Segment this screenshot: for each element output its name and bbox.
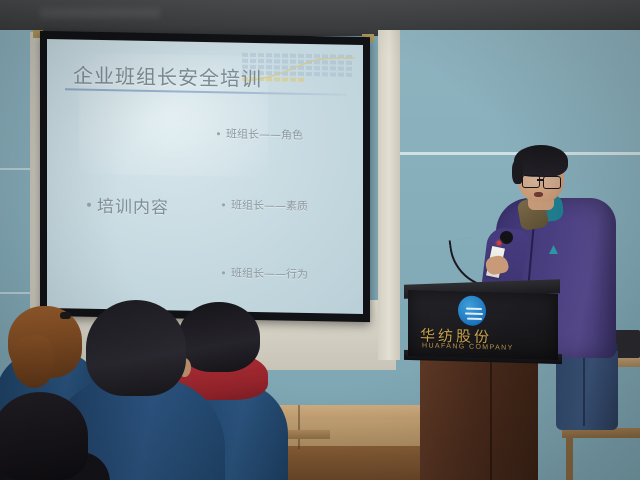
slide-bullet-behavior: 班组长——行为 xyxy=(222,264,308,282)
podium-base xyxy=(420,360,538,480)
microphone-head-icon xyxy=(500,231,513,244)
huafang-logo-icon xyxy=(458,295,486,326)
audience-member-hair xyxy=(178,302,260,372)
logo-wave-line xyxy=(467,318,482,320)
logo-wave-line xyxy=(466,308,482,310)
bullet-dot-icon xyxy=(222,271,225,274)
speaker-glasses-bridge xyxy=(537,179,544,181)
ceiling-light-reflection xyxy=(40,8,160,18)
slide-bullet-label: 班组长——行为 xyxy=(231,264,308,281)
speaker-mouth xyxy=(534,192,543,197)
speaker-glasses-left-lens xyxy=(522,175,540,188)
presentation-slide: 企业班组长安全培训 班组长——角色 培训内容 班组长——素质 班组长——行为 xyxy=(47,39,363,314)
microphone-led-indicator xyxy=(497,241,501,245)
wall-seam-left-upper xyxy=(0,168,34,170)
slide-title: 企业班组长安全培训 xyxy=(73,59,262,92)
slide-bullet-quality: 班组长——素质 xyxy=(222,196,308,214)
speaker-jeans-seam xyxy=(583,352,585,426)
pillar-right xyxy=(378,30,400,360)
slide-bullet-label: 班组长——素质 xyxy=(231,196,308,213)
bullet-dot-icon xyxy=(222,203,225,206)
logo-wave-line xyxy=(465,313,483,315)
podium-front-panel: 华纺股份 HUAFANG COMPANY xyxy=(408,290,558,360)
bullet-dot-icon xyxy=(87,202,91,206)
slide-main-bullet-label: 培训内容 xyxy=(97,192,169,218)
side-table-leg xyxy=(566,438,573,480)
speaker-jeans xyxy=(556,346,618,430)
audience-member-hair xyxy=(0,392,88,480)
podium-base-seam xyxy=(490,360,492,480)
wall-seam-left-lower xyxy=(0,292,34,294)
conference-room-photo: 企业班组长安全培训 班组长——角色 培训内容 班组长——素质 班组长——行为 xyxy=(0,0,640,480)
bullet-dot-icon xyxy=(217,132,220,135)
slide-bullet-label: 班组长——角色 xyxy=(226,125,303,142)
audience-member-hair xyxy=(86,300,186,396)
slide-bullet-role: 班组长——角色 xyxy=(217,125,303,143)
podium-company-name-en: HUAFANG COMPANY xyxy=(422,342,514,351)
projection-screen: 企业班组长安全培训 班组长——角色 培训内容 班组长——素质 班组长——行为 xyxy=(40,31,370,322)
stage-panel-seam xyxy=(298,405,300,449)
slide-main-bullet: 培训内容 xyxy=(87,192,169,219)
speaker-glasses-right-lens xyxy=(543,176,561,189)
audience-member-hair-tie xyxy=(60,312,71,319)
